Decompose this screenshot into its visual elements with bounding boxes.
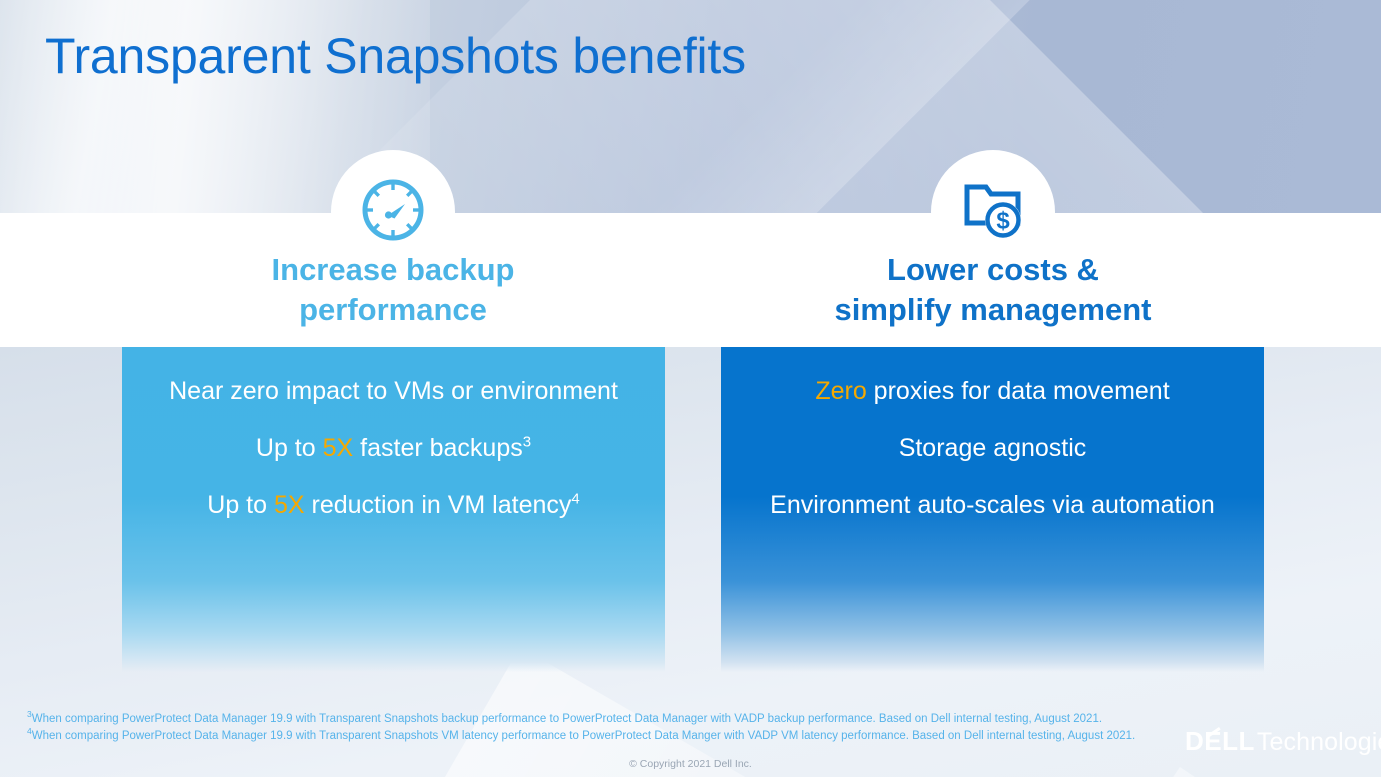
footnotes: 3When comparing PowerProtect Data Manage…	[27, 711, 1167, 745]
column-heading-lower-costs-simplify-management: Lower costs & simplify management	[783, 250, 1203, 330]
dell-technologies-logo: DELL Technologies	[1185, 726, 1381, 757]
column-heading-line-2: performance	[299, 292, 487, 327]
footnote-item: 4When comparing PowerProtect Data Manage…	[27, 728, 1167, 745]
benefit-text-highlight: Zero	[815, 377, 866, 405]
column-heading-line-1: Increase backup	[272, 252, 515, 287]
benefit-line: Near zero impact to VMs or environment	[164, 375, 624, 408]
page-title: Transparent Snapshots benefits	[45, 27, 746, 85]
footnote-item: 3When comparing PowerProtect Data Manage…	[27, 711, 1167, 728]
footnote-text: When comparing PowerProtect Data Manager…	[32, 713, 1102, 725]
svg-text:$: $	[996, 207, 1010, 234]
benefit-line: Up to 5X reduction in VM latency4	[164, 489, 624, 522]
benefit-text-post: proxies for data movement	[867, 377, 1170, 405]
column-heading-line-2: simplify management	[835, 292, 1152, 327]
copyright-text: © Copyright 2021 Dell Inc.	[0, 758, 1381, 770]
benefit-text-pre: Up to	[207, 491, 274, 519]
folder-dollar-icon: $	[958, 175, 1028, 250]
benefit-text-pre: Storage agnostic	[899, 434, 1087, 462]
benefit-text-highlight: 5X	[323, 434, 354, 462]
benefit-text-post: reduction in VM latency	[305, 491, 572, 519]
column-heading-line-1: Lower costs &	[887, 252, 1099, 287]
footnote-text: When comparing PowerProtect Data Manager…	[32, 730, 1136, 742]
benefit-card-increase-backup-performance: Near zero impact to VMs or environment U…	[122, 347, 665, 672]
footnote-marker: 3	[523, 434, 531, 451]
benefit-line: Storage agnostic	[763, 432, 1223, 465]
benefit-text-pre: Environment auto-scales via automation	[770, 491, 1215, 519]
benefit-text-post: faster backups	[353, 434, 523, 462]
speedometer-icon	[358, 175, 428, 250]
dell-wordmark-text: DELL	[1185, 726, 1255, 756]
slide-canvas: Transparent Snapshots benefits	[0, 0, 1381, 777]
dell-wordmark: DELL	[1185, 726, 1255, 757]
benefit-text-pre: Near zero impact to VMs or environment	[169, 377, 618, 405]
footnote-marker: 4	[571, 491, 579, 508]
technologies-wordmark: Technologies	[1257, 728, 1381, 757]
column-heading-increase-backup-performance: Increase backup performance	[183, 250, 603, 330]
benefit-line: Zero proxies for data movement	[763, 375, 1223, 408]
benefit-line: Environment auto-scales via automation	[763, 489, 1223, 522]
benefit-line: Up to 5X faster backups3	[164, 432, 624, 465]
background-white-band-right	[1269, 213, 1381, 347]
benefit-card-lower-costs-simplify-management: Zero proxies for data movement Storage a…	[721, 347, 1264, 672]
benefit-text-highlight: 5X	[274, 491, 305, 519]
benefit-text-pre: Up to	[256, 434, 323, 462]
